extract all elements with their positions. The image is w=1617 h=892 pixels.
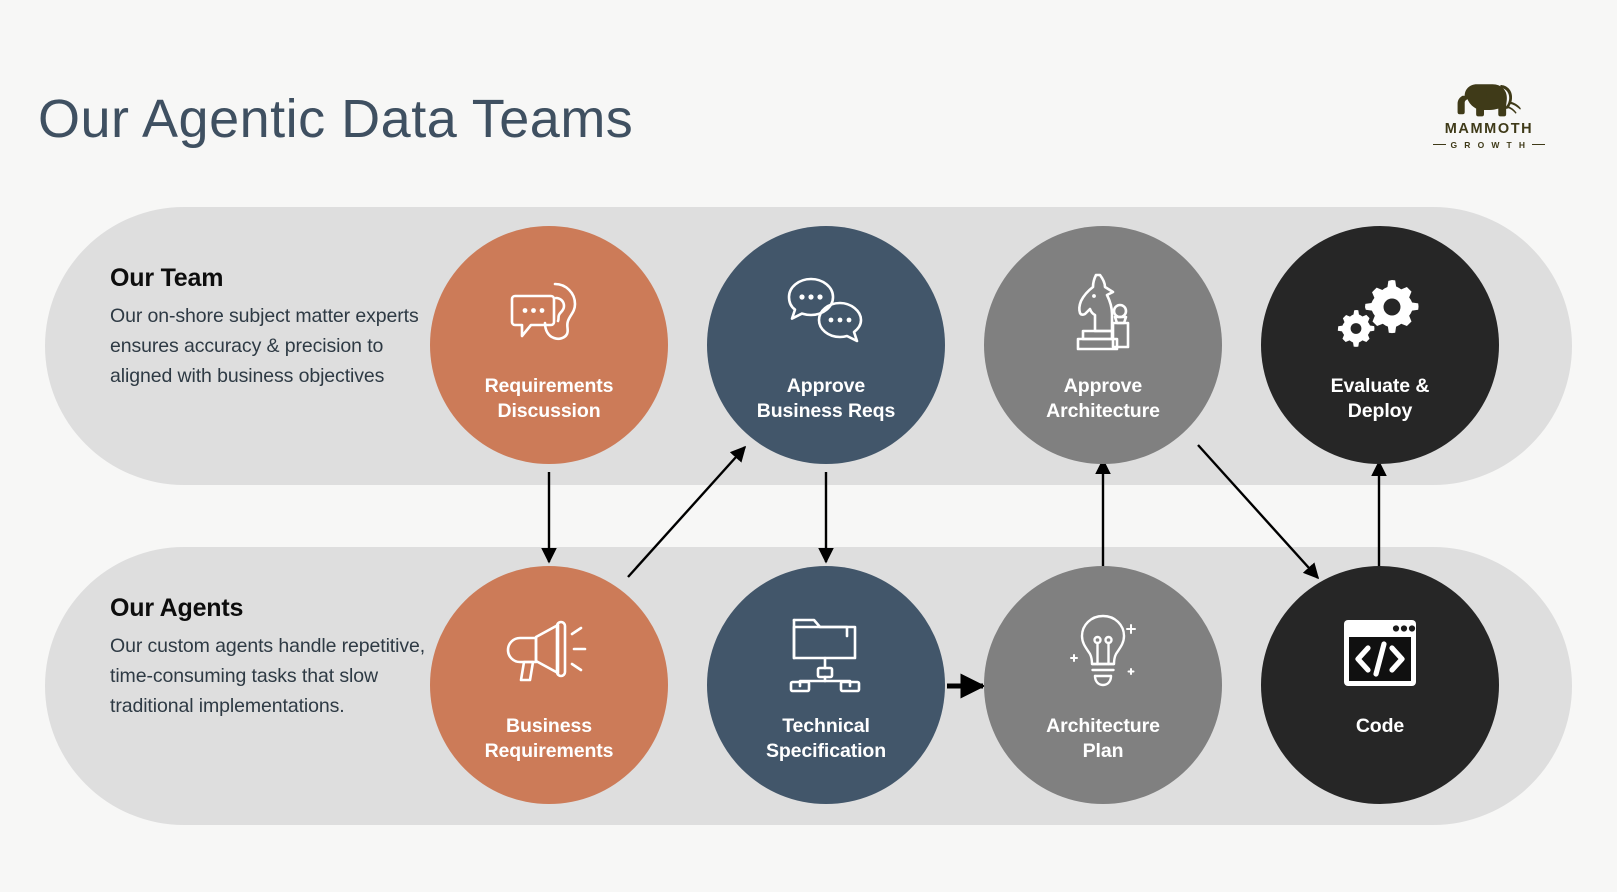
node-requirements-discussion[interactable]: Requirements Discussion [430, 226, 668, 464]
node-label: Evaluate & Deploy [1331, 374, 1430, 425]
gears-icon [1332, 270, 1428, 356]
lightbulb-icon [1055, 610, 1151, 696]
node-approve-business-reqs[interactable]: Approve Business Reqs [707, 226, 945, 464]
node-approve-architecture[interactable]: Approve Architecture [984, 226, 1222, 464]
node-business-requirements[interactable]: Business Requirements [430, 566, 668, 804]
logo-wordmark: MAMMOTH [1445, 122, 1534, 137]
node-label: Business Requirements [485, 714, 614, 765]
node-evaluate-and-deploy[interactable]: Evaluate & Deploy [1261, 226, 1499, 464]
node-label: Approve Architecture [1046, 374, 1160, 425]
logo-rule-right [1532, 144, 1545, 145]
logo-subtext: G R O W T H [1451, 141, 1528, 150]
team-body-text: Our on-shore subject matter experts ensu… [110, 302, 430, 391]
logo-rule-left [1433, 144, 1446, 145]
two-chat-bubbles-icon [778, 270, 874, 356]
node-architecture-plan[interactable]: Architecture Plan [984, 566, 1222, 804]
team-heading: Our Team [110, 264, 430, 293]
node-technical-specification[interactable]: Technical Specification [707, 566, 945, 804]
folder-hierarchy-icon [778, 610, 874, 696]
node-label: Technical Specification [766, 714, 886, 765]
megaphone-icon [501, 610, 597, 696]
node-label: Requirements Discussion [485, 374, 614, 425]
node-label: Code [1356, 714, 1404, 739]
page-title: Our Agentic Data Teams [38, 88, 633, 150]
team-description-block: Our Team Our on-shore subject matter exp… [110, 264, 430, 391]
node-label: Approve Business Reqs [757, 374, 896, 425]
slide-header: Our Agentic Data Teams MAMMOTH [0, 0, 1617, 190]
brand-logo: MAMMOTH G R O W T H [1433, 80, 1545, 158]
code-window-icon [1332, 610, 1428, 696]
logo-subtext-row: G R O W T H [1433, 141, 1545, 150]
agents-heading: Our Agents [110, 594, 430, 623]
agents-body-text: Our custom agents handle repetitive, tim… [110, 632, 430, 721]
agents-description-block: Our Agents Our custom agents handle repe… [110, 594, 430, 721]
node-label: Architecture Plan [1046, 714, 1160, 765]
node-code[interactable]: Code [1261, 566, 1499, 804]
chess-knight-icon [1055, 270, 1151, 356]
ear-speech-bubble-icon [501, 270, 597, 356]
mammoth-icon [1453, 80, 1525, 120]
